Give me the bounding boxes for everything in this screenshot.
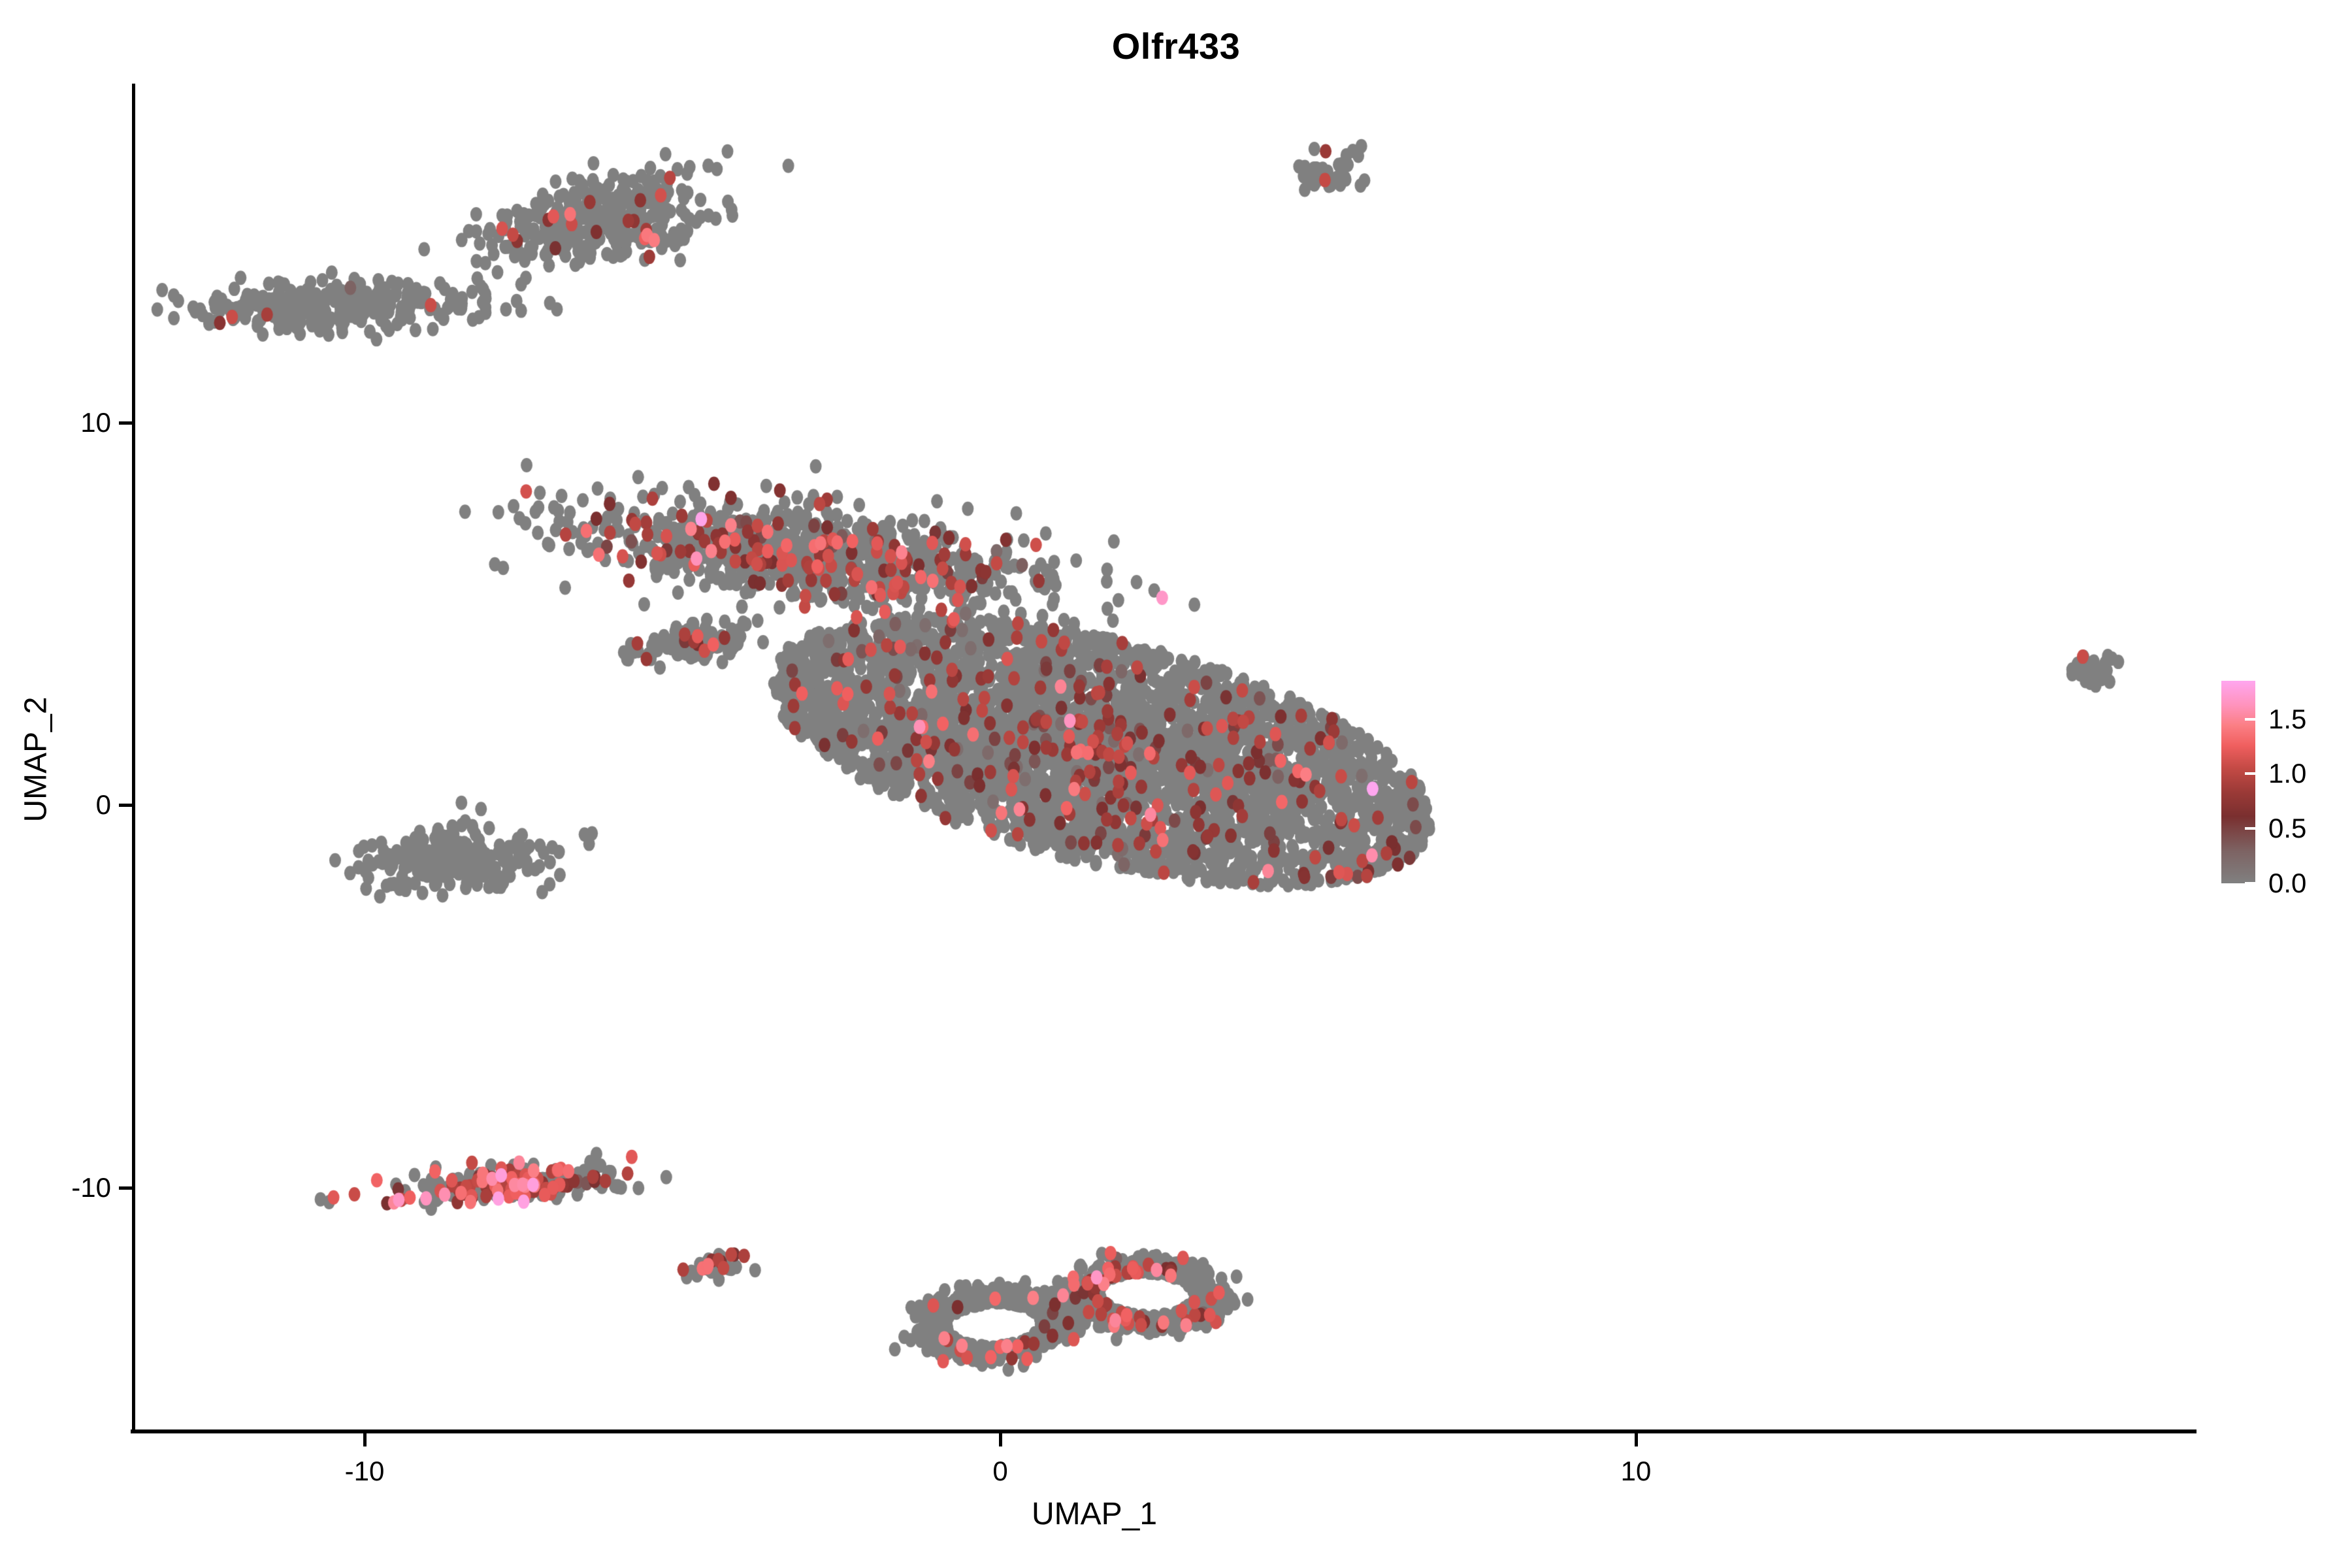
x-axis-title: UMAP_1	[0, 1496, 2189, 1532]
y-axis-title: UMAP_2	[18, 629, 54, 890]
x-tick-mark	[363, 1433, 367, 1446]
colorbar-gradient	[2221, 681, 2255, 883]
x-tick-label: 10	[1621, 1456, 1652, 1487]
colorbar-tick-mark	[2245, 772, 2259, 775]
y-tick-label: 10	[20, 407, 111, 438]
colorbar-tick-mark	[2245, 827, 2259, 830]
x-tick-mark	[1635, 1433, 1638, 1446]
colorbar-tick-mark	[2245, 882, 2259, 885]
colorbar-tick-label: 0.0	[2268, 868, 2306, 899]
page-title: Olfr433	[0, 25, 2352, 67]
x-axis-line	[131, 1429, 2197, 1433]
colorbar-tick-label: 1.0	[2268, 758, 2306, 789]
y-tick-mark	[119, 804, 132, 807]
colorbar-tick-label: 1.5	[2268, 704, 2306, 735]
y-tick-mark	[119, 421, 132, 425]
x-tick-mark	[999, 1433, 1002, 1446]
y-tick-label: -10	[20, 1172, 111, 1203]
colorbar-legend: 1.51.00.50.0	[2221, 681, 2345, 883]
colorbar-tick-mark	[2245, 718, 2259, 721]
x-tick-label: 0	[992, 1456, 1007, 1487]
x-tick-label: -10	[345, 1456, 385, 1487]
y-tick-mark	[119, 1186, 132, 1190]
umap-scatter-canvas	[133, 85, 2198, 1428]
figure-root: Olfr433 100-10 -10010 UMAP_1 UMAP_2 1.51…	[0, 0, 2352, 1568]
y-axis-line	[132, 84, 135, 1431]
plot-panel	[133, 85, 2198, 1428]
colorbar-tick-label: 0.5	[2268, 813, 2306, 844]
